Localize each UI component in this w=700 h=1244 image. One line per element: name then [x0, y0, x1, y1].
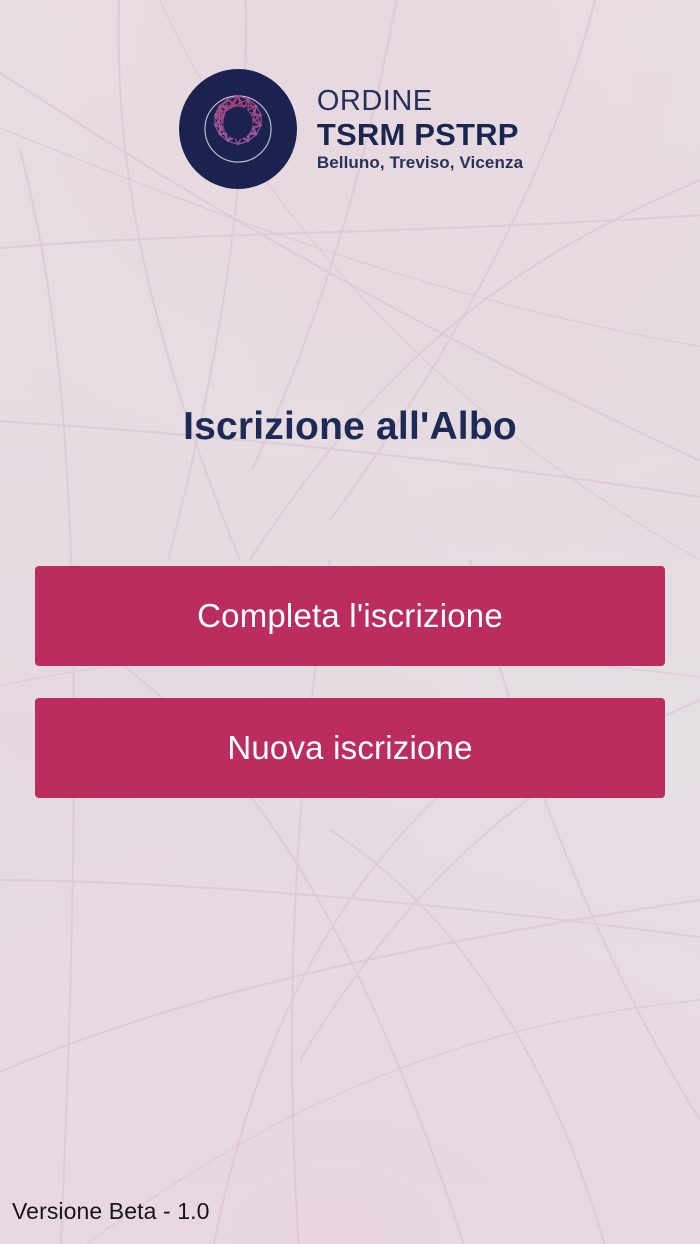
- brand-wordmark: ORDINE TSRM PSTRP Belluno, Treviso, Vice…: [317, 87, 523, 171]
- ordine-tsrm-pstrp-emblem-icon: [177, 68, 299, 190]
- page-title: Iscrizione all'Albo: [0, 405, 700, 449]
- version-label: Versione Beta - 1.0: [12, 1198, 210, 1225]
- completa-iscrizione-button[interactable]: Completa l'iscrizione: [35, 566, 665, 666]
- app-root: ORDINE TSRM PSTRP Belluno, Treviso, Vice…: [0, 0, 700, 1244]
- brand-line-ordine: ORDINE: [317, 87, 433, 116]
- brand-lockup: ORDINE TSRM PSTRP Belluno, Treviso, Vice…: [0, 68, 700, 190]
- brand-line-tsrm-pstrp: TSRM PSTRP: [317, 119, 519, 150]
- action-button-group: Completa l'iscrizione Nuova iscrizione: [35, 566, 665, 798]
- nuova-iscrizione-button[interactable]: Nuova iscrizione: [35, 698, 665, 798]
- brand-line-provinces: Belluno, Treviso, Vicenza: [317, 154, 523, 171]
